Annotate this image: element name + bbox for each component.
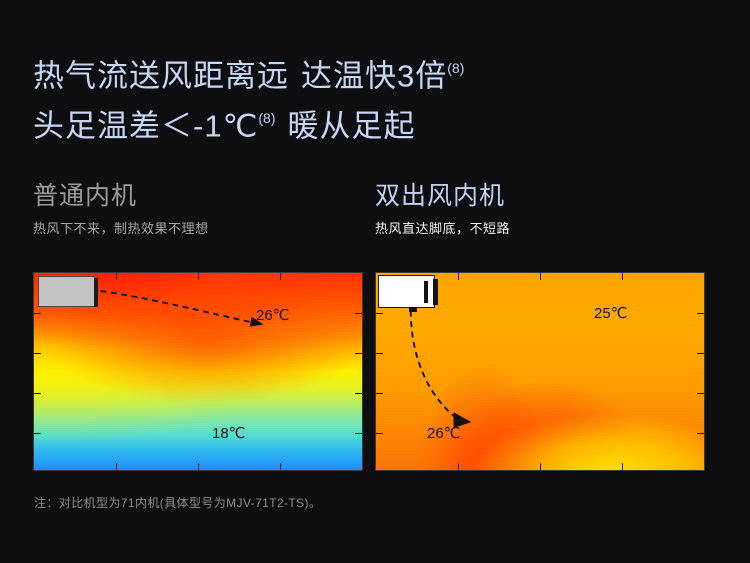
column-subtitle-standard-unit: 热风下不来，制热效果不理想 [33, 220, 209, 238]
page-title: 热气流送风距离远达温快3倍(8) 头足温差＜-1℃(8)暖从足起 [33, 48, 464, 149]
airflow-path-standard [101, 291, 254, 323]
temperature-label-dual-lower: 26℃ [427, 424, 461, 442]
footnote-marker-1: (8) [447, 60, 464, 76]
slide-root: 热气流送风距离远达温快3倍(8) 头足温差＜-1℃(8)暖从足起 普通内机 热风… [0, 0, 750, 563]
thermal-image-standard-unit [33, 272, 363, 471]
footnote-text: 注：对比机型为71内机(具体型号为MJV-71T2-TS)。 [34, 494, 321, 511]
column-subtitle-dual-outlet-unit: 热风直达脚底，不短路 [375, 220, 510, 238]
airflow-arrow-dual-outlet-unit [376, 273, 704, 471]
temperature-label-dual-upper: 25℃ [594, 304, 628, 322]
column-title-standard-unit: 普通内机 [33, 180, 209, 212]
headline-line1-part-b: 达温快3倍 [301, 58, 447, 93]
headline-line-1: 热气流送风距离远达温快3倍(8) [33, 48, 464, 98]
airflow-arrow-standard-unit [34, 273, 362, 471]
headline-line-2: 头足温差＜-1℃(8)暖从足起 [33, 98, 464, 148]
column-header-dual-outlet-unit: 双出风内机 热风直达脚底，不短路 [375, 180, 510, 238]
temperature-label-standard-upper: 26℃ [256, 306, 290, 324]
headline-line2-part-b: 暖从足起 [288, 109, 416, 144]
footnote-marker-2: (8) [258, 110, 275, 126]
airflow-path-dual-outlet [411, 311, 458, 419]
temperature-label-standard-lower: 18℃ [212, 424, 246, 442]
thermal-image-dual-outlet-unit [375, 272, 705, 471]
column-header-standard-unit: 普通内机 热风下不来，制热效果不理想 [33, 180, 209, 238]
column-title-dual-outlet-unit: 双出风内机 [375, 180, 510, 212]
headline-line1-part-a: 热气流送风距离远 [33, 58, 289, 93]
headline-line2-part-a: 头足温差＜-1℃ [33, 109, 258, 144]
